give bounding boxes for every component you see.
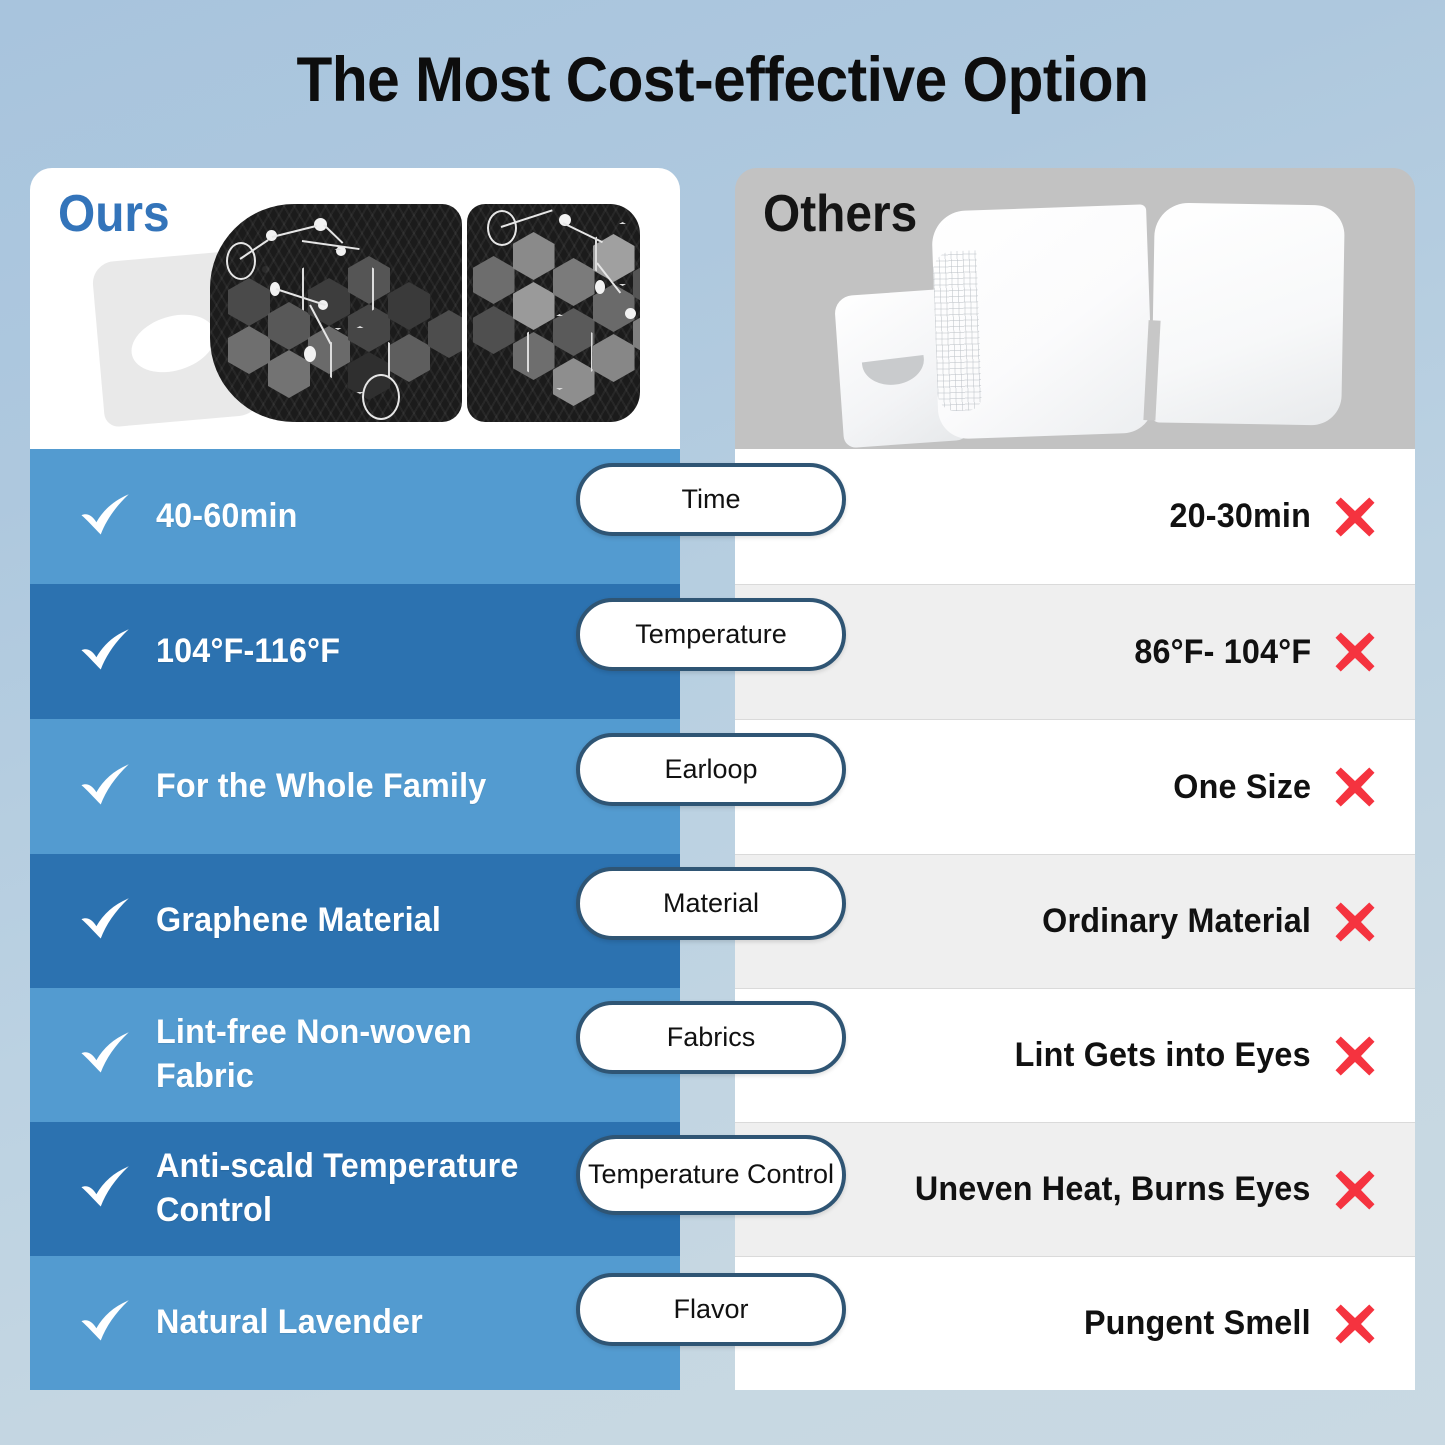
ours-label: Ours bbox=[58, 184, 170, 244]
others-label: Others bbox=[763, 184, 917, 244]
plain-mask-right bbox=[1151, 202, 1345, 425]
check-icon bbox=[78, 759, 134, 815]
ours-value: Graphene Material bbox=[156, 899, 456, 943]
feature-pill-earloop[interactable]: Earloop bbox=[576, 733, 846, 806]
check-icon bbox=[78, 489, 134, 545]
cross-icon bbox=[1331, 1300, 1379, 1348]
others-header-card: Others bbox=[735, 168, 1415, 449]
ours-value: 40-60min bbox=[156, 495, 313, 539]
feature-pill-temperature[interactable]: Temperature bbox=[576, 598, 846, 671]
feature-pill-fabrics[interactable]: Fabrics bbox=[576, 1001, 846, 1074]
ours-value: 104°F-116°F bbox=[156, 630, 355, 674]
others-value: Pungent Smell bbox=[1084, 1304, 1311, 1343]
check-icon bbox=[78, 1027, 134, 1083]
mask-body bbox=[210, 204, 640, 422]
ours-header-card: Ours bbox=[30, 168, 680, 449]
mask-half-left bbox=[210, 204, 462, 422]
feature-pill-temperature-control[interactable]: Temperature Control bbox=[576, 1135, 846, 1215]
feature-pill-flavor[interactable]: Flavor bbox=[576, 1273, 846, 1346]
cross-icon bbox=[1331, 628, 1379, 676]
ours-value: Lint-free Non-woven Fabric bbox=[156, 1011, 551, 1098]
check-icon bbox=[78, 1295, 134, 1351]
check-icon bbox=[78, 624, 134, 680]
ours-value: For the Whole Family bbox=[156, 765, 502, 809]
plain-mask-left bbox=[931, 204, 1154, 439]
hex-pattern-left bbox=[210, 204, 462, 422]
others-value: 20-30min bbox=[1169, 497, 1311, 536]
mask-half-right bbox=[467, 204, 640, 422]
others-value: One Size bbox=[1173, 768, 1311, 807]
hex-pattern-right bbox=[467, 204, 640, 422]
feature-pill-time[interactable]: Time bbox=[576, 463, 846, 536]
comparison-table: Ours bbox=[30, 168, 1415, 1413]
ours-value: Natural Lavender bbox=[156, 1301, 438, 1345]
cross-icon bbox=[1331, 493, 1379, 541]
others-value: Uneven Heat, Burns Eyes bbox=[915, 1170, 1311, 1209]
cross-icon bbox=[1331, 763, 1379, 811]
others-value: 86°F- 104°F bbox=[1134, 633, 1311, 672]
check-icon bbox=[78, 893, 134, 949]
graphene-eye-mask-image bbox=[90, 198, 670, 438]
cross-icon bbox=[1331, 1166, 1379, 1214]
page-title: The Most Cost-effective Option bbox=[51, 44, 1395, 116]
cross-icon bbox=[1331, 1032, 1379, 1080]
others-value: Ordinary Material bbox=[1042, 902, 1311, 941]
others-value: Lint Gets into Eyes bbox=[1015, 1036, 1311, 1075]
ours-value: Anti-scald Temperature Control bbox=[156, 1145, 589, 1232]
feature-pill-material[interactable]: Material bbox=[576, 867, 846, 940]
cross-icon bbox=[1331, 898, 1379, 946]
check-icon bbox=[78, 1161, 134, 1217]
